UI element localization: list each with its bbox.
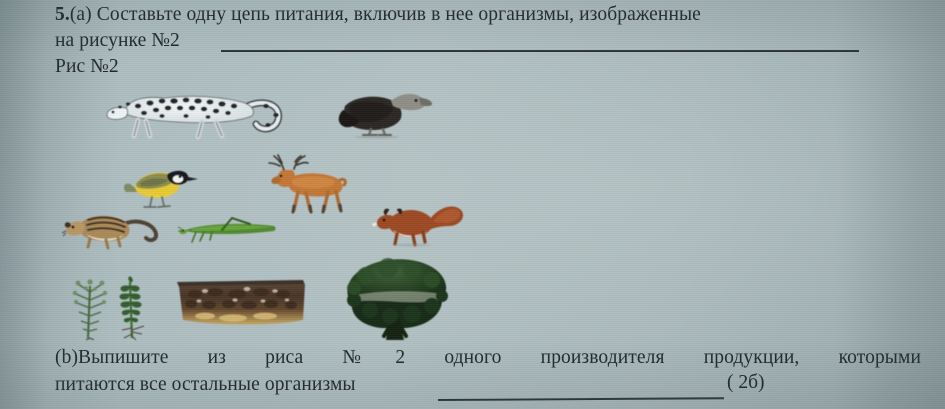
worksheet-page: 5.(a) Составьте одну цепь питания, включ… <box>0 0 945 409</box>
part-a-body: Составьте одну цепь питания, включив в н… <box>97 4 701 25</box>
question-5a-line2: на рисунке №2 <box>55 28 180 53</box>
snow-leopard-icon <box>98 84 288 140</box>
figure-organisms <box>0 78 520 340</box>
question-number: 5. <box>55 4 70 25</box>
answer-rule-b[interactable] <box>438 397 724 400</box>
great-tit-icon <box>124 164 198 212</box>
answer-rule-a[interactable] <box>221 50 859 52</box>
deer-icon <box>262 154 354 216</box>
squirrel-icon <box>371 198 463 248</box>
figure-caption: Рис №2 <box>55 54 119 79</box>
plants-icon <box>64 268 164 340</box>
soil-icon <box>175 276 307 332</box>
marks-label: ( 2б) <box>727 372 765 394</box>
tree-icon <box>336 256 456 340</box>
question-5b-line1: (b)Выпишите из риса №2 одного производит… <box>55 345 921 371</box>
vulture-icon <box>333 88 433 140</box>
question-5a-text: 5.(a) Составьте одну цепь питания, включ… <box>55 2 917 27</box>
part-a-label: (a) <box>70 4 92 25</box>
question-5b-line2: питаются все остальные организмы <box>55 372 356 398</box>
grasshopper-icon <box>178 210 280 246</box>
chipmunk-icon <box>62 206 158 250</box>
